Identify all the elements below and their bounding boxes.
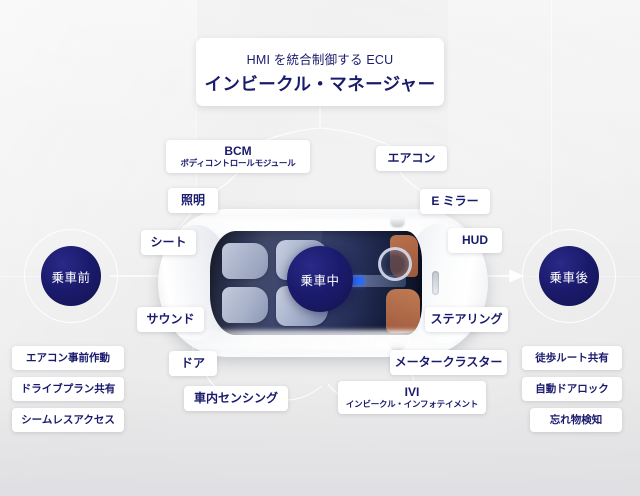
feature-label-sound: サウンド: [146, 313, 194, 327]
feature-chip-cabin-sensing[interactable]: 車内センシング: [184, 386, 288, 411]
service-chip-seamless-access[interactable]: シームレスアクセス: [12, 408, 124, 432]
service-label-seamless-access: シームレスアクセス: [21, 414, 115, 426]
stage-label-during: 乗車中: [300, 270, 339, 289]
feature-chip-steering[interactable]: ステアリング: [425, 307, 508, 332]
feature-label-e-mirror: E ミラー: [431, 195, 478, 209]
feature-label-hud: HUD: [462, 234, 488, 248]
stage-label-after: 乗車後: [549, 267, 588, 286]
feature-label-ivi: IVI: [405, 386, 420, 400]
feature-label-bcm: BCM: [224, 145, 251, 159]
header-card: HMI を統合制御する ECU インビークル・マネージャー: [196, 38, 444, 106]
feature-label-lighting: 照明: [181, 194, 205, 208]
service-label-drive-plan-sharing: ドライブプラン共有: [21, 383, 116, 395]
service-label-ac-preconditioning: エアコン事前作動: [26, 352, 110, 364]
service-chip-walking-route-sharing[interactable]: 徒歩ルート共有: [522, 346, 622, 370]
stage-circle-during[interactable]: 乗車中: [287, 246, 353, 312]
service-label-left-item-detection: 忘れ物検知: [550, 414, 603, 426]
door-handle: [432, 271, 439, 295]
side-mirror-bottom: [391, 340, 404, 349]
feature-chip-door[interactable]: ドア: [169, 351, 217, 376]
stage-circle-after[interactable]: 乗車後: [539, 246, 599, 306]
feature-label-steering: ステアリング: [431, 313, 503, 327]
feature-label-cabin-sensing: 車内センシング: [194, 392, 278, 406]
service-chip-left-item-detection[interactable]: 忘れ物検知: [530, 408, 622, 432]
feature-chip-meter-cluster[interactable]: メータークラスター: [390, 350, 507, 375]
feature-label-air-conditioner: エアコン: [387, 152, 435, 166]
service-chip-drive-plan-sharing[interactable]: ドライブプラン共有: [12, 377, 124, 401]
feature-chip-sound[interactable]: サウンド: [137, 307, 204, 332]
feature-label-seat: シート: [150, 236, 186, 250]
backdrop-edge-right: [551, 0, 552, 236]
steering-wheel: [378, 247, 412, 281]
feature-chip-hud[interactable]: HUD: [448, 228, 502, 253]
feature-label-meter-cluster: メータークラスター: [395, 356, 503, 370]
diagram-canvas: HMI を統合制御する ECU インビークル・マネージャー: [0, 0, 640, 496]
feature-sublabel-bcm: ボディコントロールモジュール: [180, 158, 295, 168]
stage-label-before: 乗車前: [51, 267, 90, 286]
cabin-trim-lower: [386, 289, 420, 333]
feature-chip-ivi[interactable]: IVI インビークル・インフォテイメント: [338, 381, 486, 414]
service-label-walking-route-sharing: 徒歩ルート共有: [535, 352, 609, 364]
service-label-auto-door-lock: 自動ドアロック: [535, 383, 609, 395]
stage-circle-before[interactable]: 乗車前: [41, 246, 101, 306]
feature-sublabel-ivi: インビークル・インフォテイメント: [346, 399, 478, 409]
header-title: インビークル・マネージャー: [205, 71, 436, 96]
service-chip-auto-door-lock[interactable]: 自動ドアロック: [522, 377, 622, 401]
feature-label-door: ドア: [181, 357, 205, 371]
header-subtitle: HMI を統合制御する ECU: [247, 49, 394, 68]
feature-chip-bcm[interactable]: BCM ボディコントロールモジュール: [166, 140, 310, 173]
feature-chip-e-mirror[interactable]: E ミラー: [420, 189, 490, 214]
side-mirror-top: [391, 217, 404, 226]
feature-chip-air-conditioner[interactable]: エアコン: [376, 146, 447, 171]
feature-chip-seat[interactable]: シート: [141, 230, 196, 255]
service-chip-ac-preconditioning[interactable]: エアコン事前作動: [12, 346, 124, 370]
feature-chip-lighting[interactable]: 照明: [168, 188, 218, 213]
